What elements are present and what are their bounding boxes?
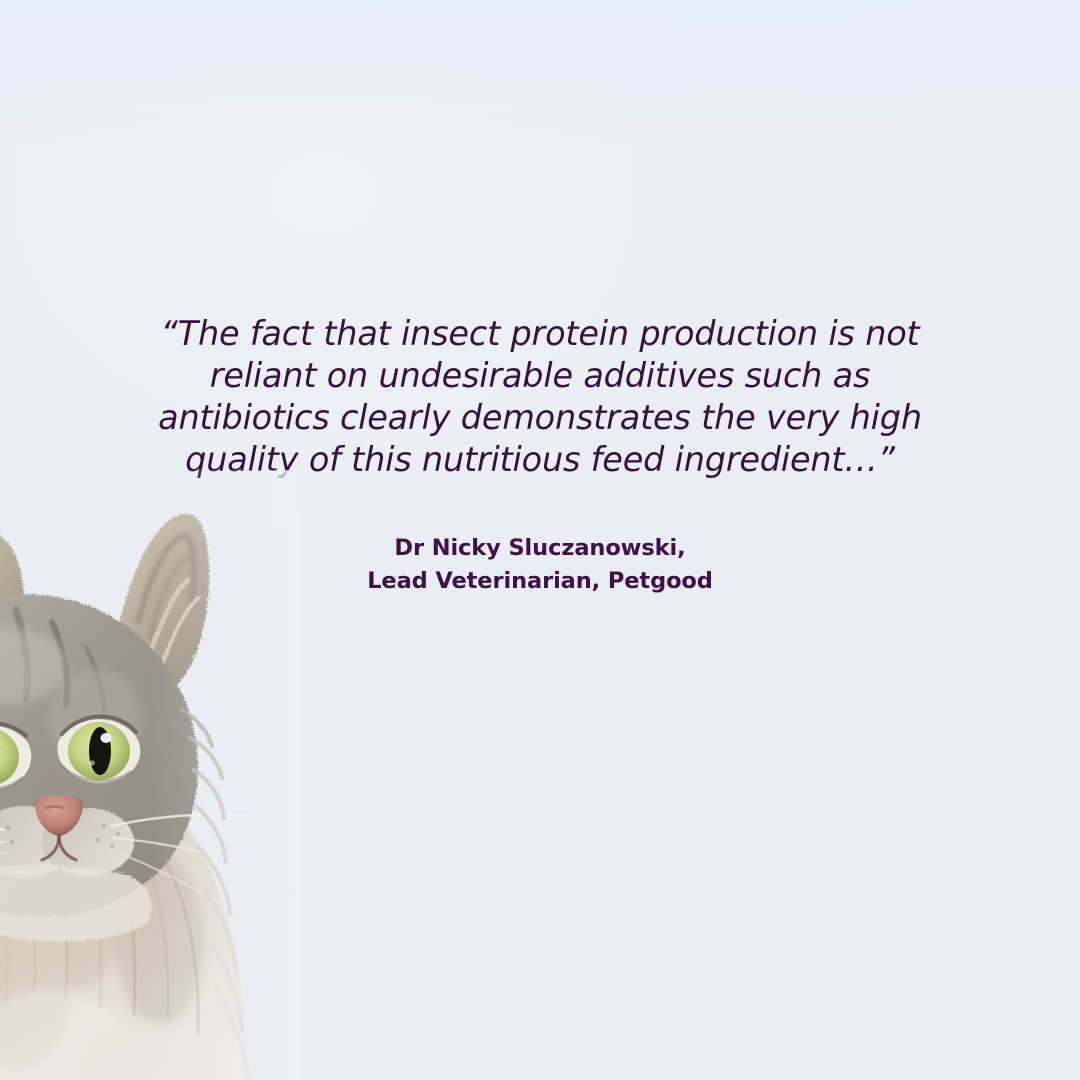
background-gradient-top xyxy=(0,0,1080,140)
cat-eye-right xyxy=(58,716,141,783)
quote-line: antibiotics clearly demonstrates the ver… xyxy=(150,397,930,439)
quote-line: reliant on undesirable additives such as xyxy=(150,355,930,397)
quote-line: “The fact that insect protein production… xyxy=(150,313,930,355)
testimonial-card: “The fact that insect protein production… xyxy=(0,0,1080,1080)
cat-photo xyxy=(0,470,300,1080)
quote-text: “The fact that insect protein production… xyxy=(150,313,930,481)
